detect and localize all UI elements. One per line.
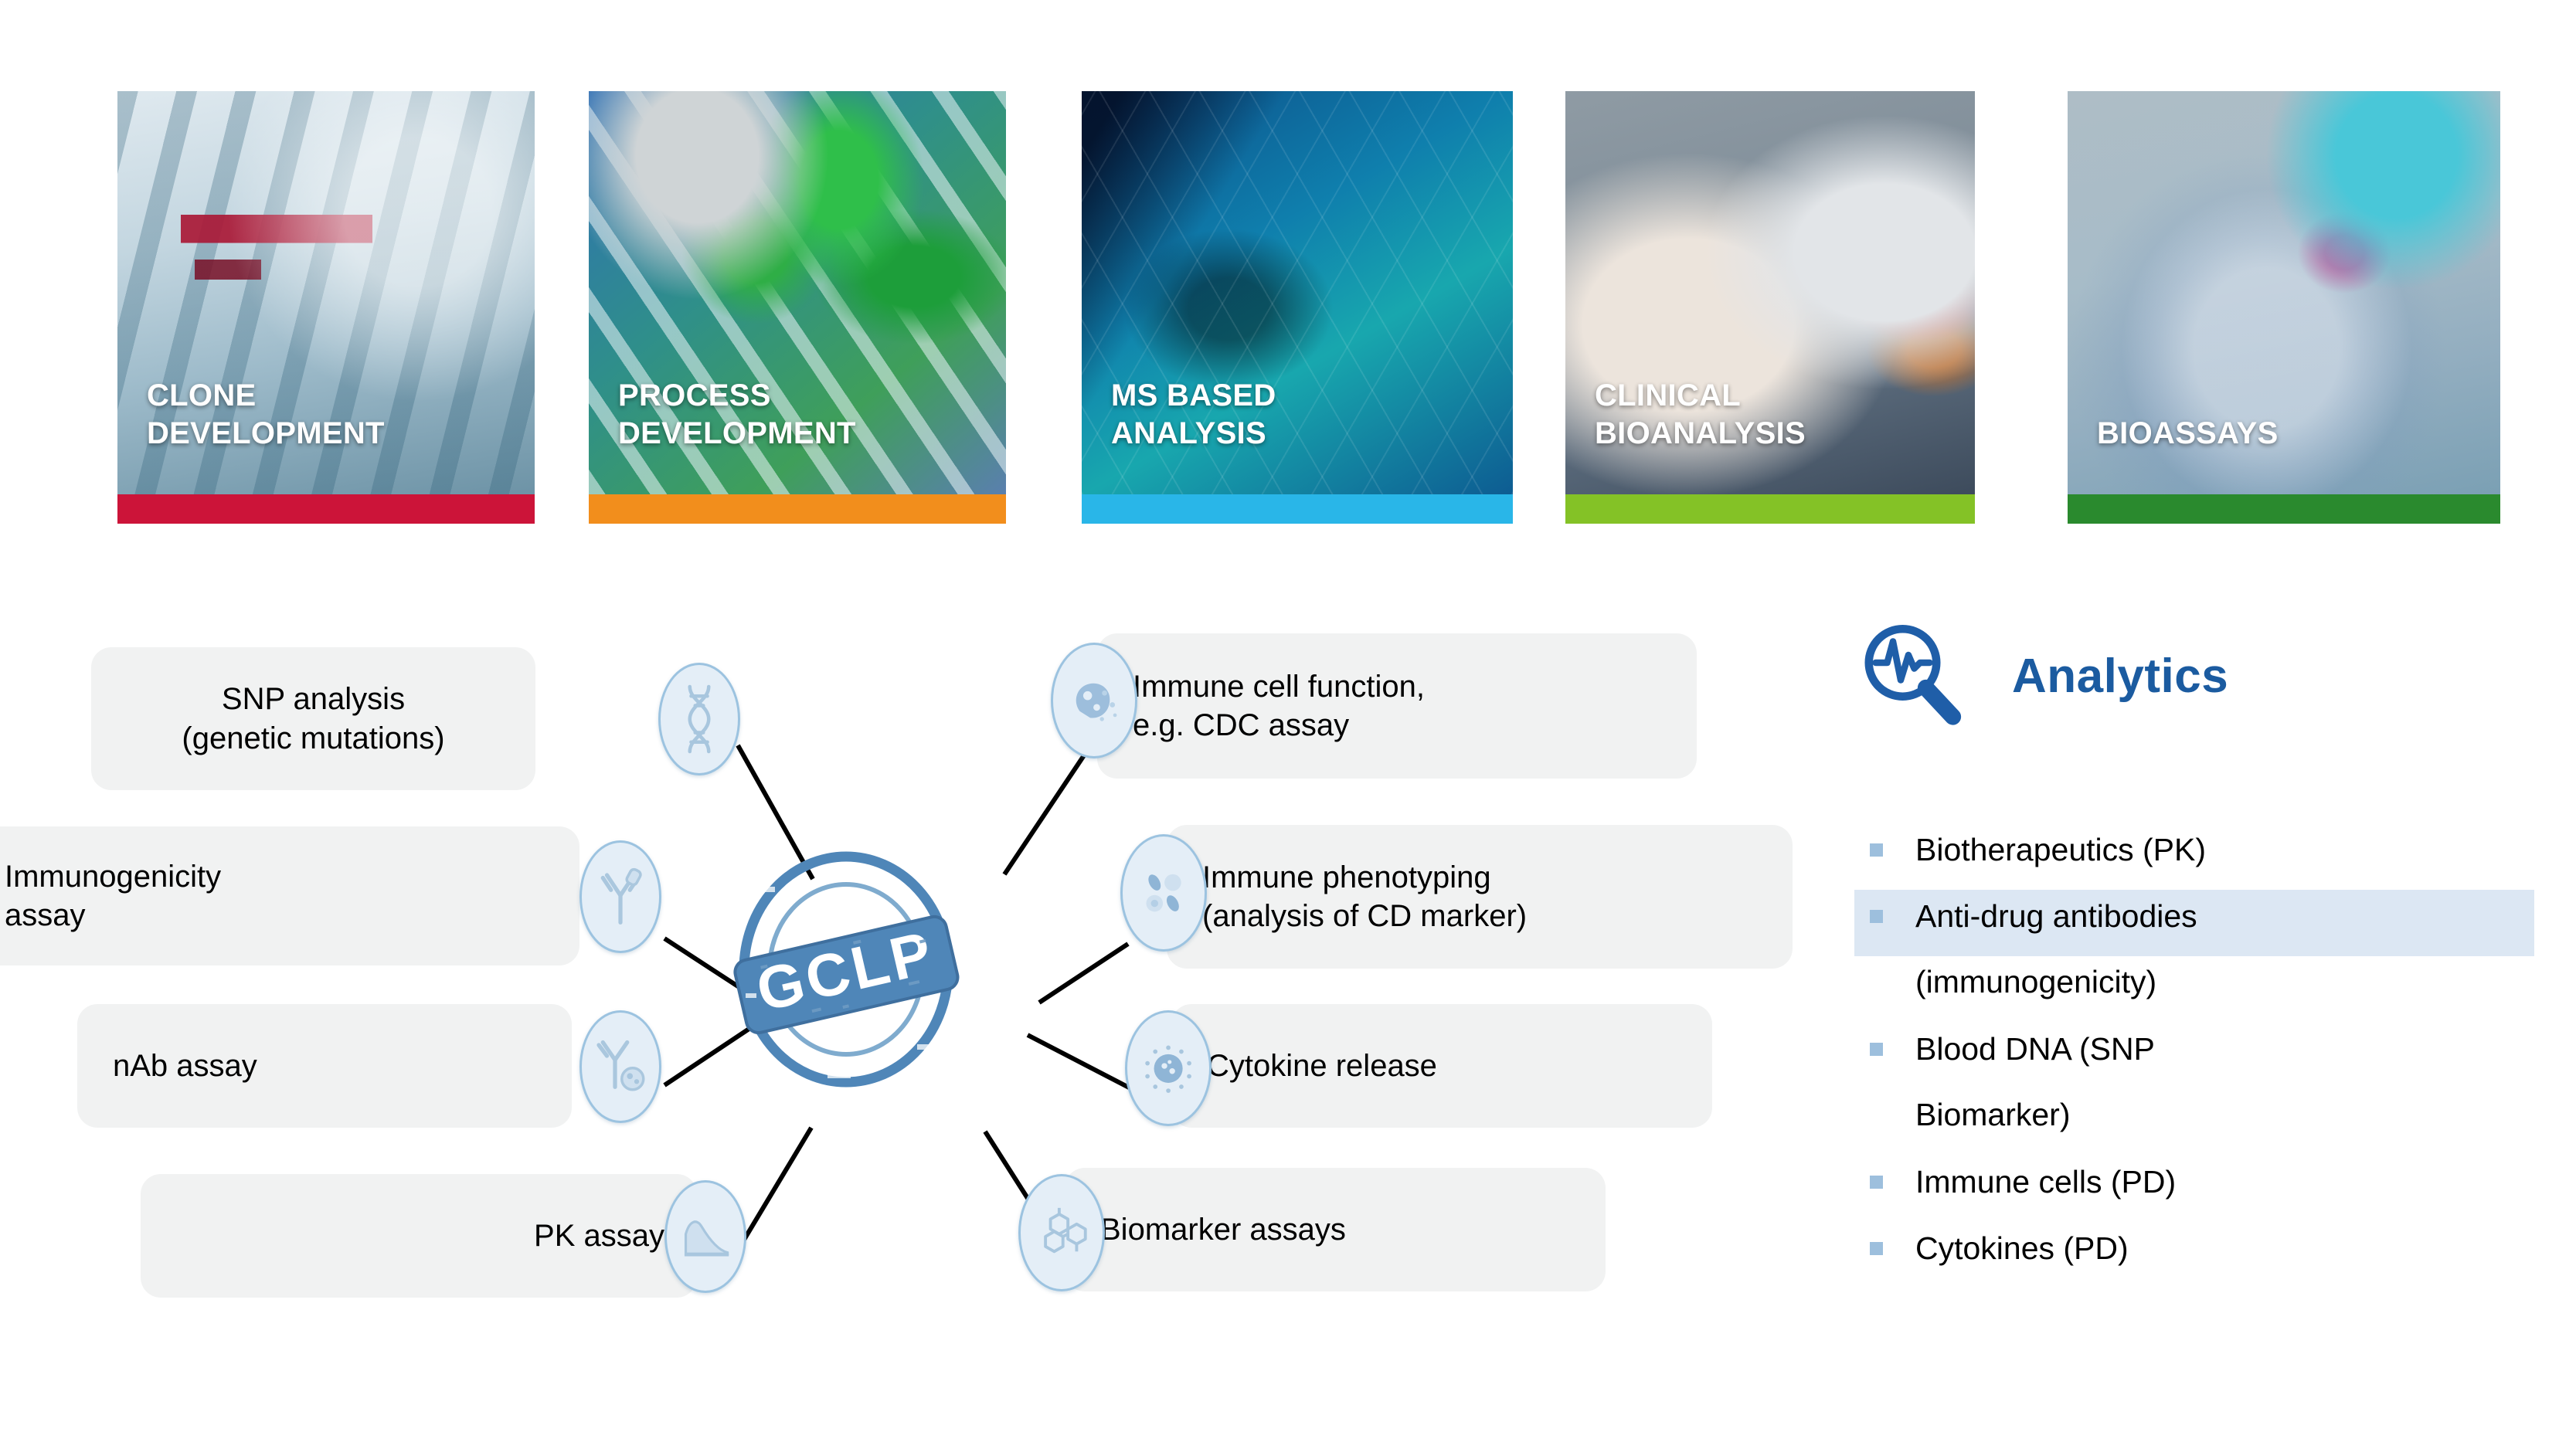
molecule-icon [1018,1174,1105,1291]
node-text-immunogenicity-assay: Immunogenicity assay [5,857,221,935]
list-item[interactable]: Immune cells (PD) [1854,1155,2534,1222]
molecule-icon-glyph [1033,1193,1090,1272]
list-item[interactable]: Blood DNA (SNP [1854,1023,2534,1089]
bullet-square-icon [1870,843,1883,857]
analytics-panel: Analytics Biotherapeutics (PK) Anti-drug… [1854,618,2534,1288]
bullet-square-icon [1870,1242,1883,1255]
card-label-clinical-bioanalysis: CLINICAL BIOANALYSIS [1595,377,1806,453]
card-accent-bar-ms-based-analysis [1082,494,1513,524]
node-label-immunogenicity-assay[interactable]: Immunogenicity assay [0,826,579,965]
node-label-immune-phenotyping[interactable]: Immune phenotyping (analysis of CD marke… [1167,825,1793,969]
bullet-square-icon [1870,1043,1883,1056]
dna-icon [658,663,740,775]
node-text-biomarker-assays: Biomarker assays [1100,1210,1346,1249]
analytics-item-text: Anti-drug antibodies [1915,890,2197,935]
analytics-item-text: Blood DNA (SNP [1915,1023,2155,1067]
card-label-clone-development: CLONE DEVELOPMENT [147,377,385,453]
gclp-hub[interactable]: GCLP [730,842,962,1097]
cell-marker-icon-glyph [1135,853,1192,932]
node-text-nab-assay: nAb assay [113,1047,257,1085]
antibody-cell-icon-glyph [593,1029,647,1105]
analytics-title: Analytics [2012,649,2228,704]
node-text-immune-phenotyping: Immune phenotyping (analysis of CD marke… [1202,858,1527,936]
card-bioassays[interactable]: BIOASSAYS [2068,91,2500,524]
analytics-item-text: Immune cells (PD) [1915,1155,2176,1200]
antibody-icon-glyph [593,859,647,935]
node-label-immune-cell-function[interactable]: Immune cell function, e.g. CDC assay [1097,633,1697,779]
analytics-header: Analytics [1854,618,2534,734]
antibody-icon [579,840,661,953]
analytics-item-text: Biotherapeutics (PK) [1915,823,2206,868]
gclp-spoke-diagram: SNP analysis (genetic mutations) Immunog… [0,587,1800,1367]
node-text-pk-assay: PK assay [534,1217,664,1255]
pk-curve-icon [664,1180,746,1293]
cytokine-cell-icon [1125,1010,1212,1126]
card-process-development[interactable]: PROCESS DEVELOPMENT [589,91,1006,524]
analytics-item-continuation: Biomarker) [1854,1089,2534,1155]
gclp-stamp: GCLP [730,842,962,1097]
bullet-square-icon [1870,1176,1883,1189]
node-text-snp-analysis: SNP analysis (genetic mutations) [182,680,444,758]
node-label-pk-assay[interactable]: PK assay [141,1174,697,1298]
slide-canvas: CLONE DEVELOPMENT PROCESS DEVELOPMENT MS… [0,0,2576,1449]
node-label-nab-assay[interactable]: nAb assay [77,1004,572,1128]
card-clinical-bioanalysis[interactable]: CLINICAL BIOANALYSIS [1565,91,1975,524]
card-accent-bar-clone-development [117,494,535,524]
card-accent-bar-process-development [589,494,1006,524]
list-item[interactable]: Biotherapeutics (PK) [1854,823,2534,890]
lysed-cell-icon-glyph [1065,662,1123,740]
card-clone-development[interactable]: CLONE DEVELOPMENT [117,91,535,524]
node-text-cytokine-release: Cytokine release [1207,1047,1437,1085]
analytics-item-continuation: (immunogenicity) [1854,956,2534,1023]
analytics-list: Biotherapeutics (PK) Anti-drug antibodie… [1854,823,2534,1288]
card-accent-bar-clinical-bioanalysis [1565,494,1975,524]
lysed-cell-icon [1051,643,1137,758]
bullet-square-icon [1870,910,1883,923]
antibody-cell-icon [579,1010,661,1123]
magnifier-pulse-icon [1854,616,1970,736]
list-item[interactable]: Anti-drug antibodies [1854,890,2534,956]
cell-marker-icon [1120,834,1207,952]
card-ms-based-analysis[interactable]: MS BASED ANALYSIS [1082,91,1513,524]
node-label-snp-analysis[interactable]: SNP analysis (genetic mutations) [91,647,535,790]
analytics-item-text: Cytokines (PD) [1915,1222,2129,1267]
node-label-biomarker-assays[interactable]: Biomarker assays [1065,1168,1606,1291]
list-item[interactable]: Cytokines (PD) [1854,1222,2534,1288]
card-accent-bar-bioassays [2068,494,2500,524]
node-text-immune-cell-function: Immune cell function, e.g. CDC assay [1133,667,1425,745]
pk-curve-icon-glyph [678,1199,732,1274]
magnifier-pulse-icon-glyph [1854,616,1970,732]
dna-icon-glyph [672,681,726,757]
cytokine-cell-icon-glyph [1140,1030,1197,1108]
node-label-cytokine-release[interactable]: Cytokine release [1171,1004,1712,1128]
card-label-process-development: PROCESS DEVELOPMENT [618,377,856,453]
card-label-bioassays: BIOASSAYS [2097,415,2279,453]
card-label-ms-based-analysis: MS BASED ANALYSIS [1111,377,1276,453]
